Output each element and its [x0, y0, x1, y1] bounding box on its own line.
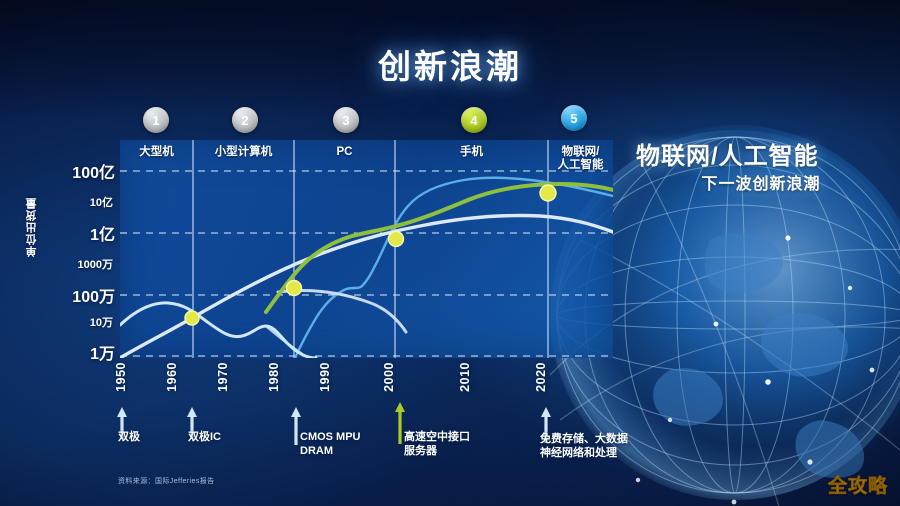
annotation-label-1: 双极 [118, 430, 140, 444]
x-tick-2010: 2010 [458, 362, 472, 392]
era-badge-1-number: 1 [152, 113, 159, 128]
era-badge-5[interactable]: 5 [561, 105, 587, 131]
y-tick-100yi: 100亿 [40, 159, 115, 183]
series-growth-curve [266, 184, 613, 312]
era-badge-4[interactable]: 4 [461, 107, 487, 133]
era-label-5: 物联网/ 人工智能 [548, 146, 613, 172]
right-panel-title: 物联网/人工智能 [636, 136, 886, 171]
era-badge-5-number: 5 [570, 111, 577, 126]
y-tick-1wan: 1万 [40, 340, 115, 364]
x-tick-2000: 2000 [382, 362, 396, 392]
series-pc-decline [278, 290, 406, 332]
y-tick-1000wan: 1000万 [40, 256, 113, 272]
y-tick-10wan: 10万 [40, 314, 113, 330]
chart-canvas [120, 140, 613, 358]
era-badge-2-number: 2 [241, 113, 248, 128]
x-tick-1980: 1980 [267, 362, 281, 392]
series-wave-curve [120, 303, 316, 358]
y-tick-10yi: 10亿 [40, 194, 113, 210]
era-badge-1[interactable]: 1 [143, 107, 169, 133]
x-tick-1970: 1970 [216, 362, 230, 392]
y-axis-title: 单位出货量 [24, 197, 40, 257]
marker-mainframe[interactable] [185, 311, 199, 325]
right-panel-subtitle: 下一波创新浪潮 [636, 170, 886, 194]
series-trend-line [120, 215, 613, 358]
marker-minicomputer[interactable] [287, 281, 302, 296]
era-label-1: 大型机 [120, 146, 193, 159]
presentation-slide: 创新浪潮 1 2 3 4 5 单位出货量 100亿 10亿 1亿 1000万 1… [0, 0, 900, 506]
marker-mobile[interactable] [540, 185, 556, 201]
page-title: 创新浪潮 [0, 40, 900, 88]
era-label-3: PC [294, 146, 395, 159]
era-badge-2[interactable]: 2 [232, 107, 258, 133]
x-tick-1950: 1950 [114, 362, 128, 392]
y-tick-1yi: 1亿 [40, 221, 115, 245]
source-note: 资料来源：国际Jefferies报告 [118, 476, 215, 486]
x-tick-1960: 1960 [165, 362, 179, 392]
series-wave-branch [266, 326, 302, 354]
era-badge-3-number: 3 [342, 113, 349, 128]
y-tick-100wan: 100万 [40, 283, 115, 307]
annotation-label-5: 免费存储、大数据 神经网络和处理 [540, 432, 628, 460]
annotation-label-2: 双极IC [188, 430, 221, 444]
annotation-label-3: CMOS MPU DRAM [300, 430, 361, 458]
x-tick-2020: 2020 [534, 362, 548, 392]
era-badge-3[interactable]: 3 [333, 107, 359, 133]
marker-pc[interactable] [389, 232, 404, 247]
watermark: 全攻略 [828, 471, 888, 498]
annotation-label-4: 高速空中接口 服务器 [404, 430, 470, 458]
era-label-2: 小型计算机 [193, 146, 294, 159]
era-label-4: 手机 [395, 146, 548, 159]
era-badge-4-number: 4 [470, 113, 477, 128]
innovation-waves-chart: 大型机 小型计算机 PC 手机 物联网/ 人工智能 [120, 140, 613, 358]
x-tick-1990: 1990 [318, 362, 332, 392]
